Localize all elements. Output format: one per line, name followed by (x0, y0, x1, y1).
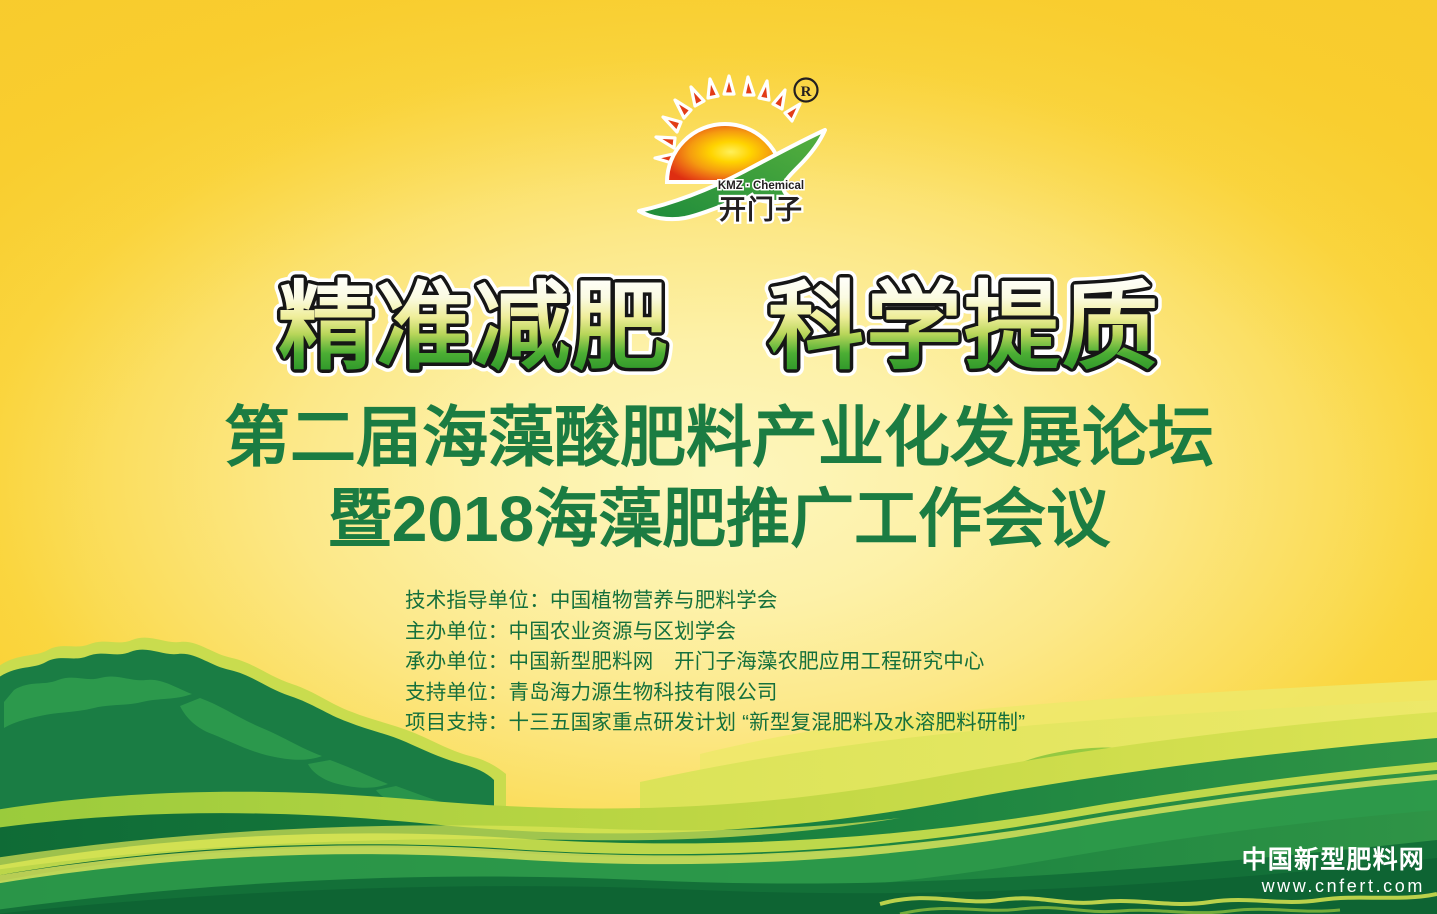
site-watermark: 中国新型肥料网 www.cnfert.com (1242, 845, 1425, 898)
watermark-url: www.cnfert.com (1242, 875, 1425, 898)
subtitle-line-1: 第二届海藻酸肥料产业化发展论坛 (224, 400, 1214, 474)
subtitle-line-2: 暨2018海藻肥推广工作会议 (327, 483, 1110, 555)
detail-lines: 技术指导单位：中国植物营养与肥料学会 主办单位：中国农业资源与区划学会 承办单位… (405, 586, 1205, 739)
brand-cn-text: 开门子 (719, 195, 803, 225)
svg-text:R: R (801, 84, 812, 100)
brand-latin-text: KMZ · Chemical (718, 180, 804, 192)
watermark-site-name: 中国新型肥料网 (1242, 845, 1425, 875)
subtitle-block: 第二届海藻酸肥料产业化发展论坛 暨2018海藻肥推广工作会议 (0, 398, 1437, 568)
headline-text: 精准减肥 科学提质 (278, 274, 1160, 381)
conference-poster: R (0, 0, 1437, 914)
headline: 精准减肥 科学提质 精准减肥 科学提质 精准减肥 科学提质 (0, 268, 1437, 388)
detail-line-technical-guidance: 技术指导单位：中国植物营养与肥料学会 (405, 586, 1205, 617)
detail-line-project-support: 项目支持：十三五国家重点研发计划 “新型复混肥料及水溶肥料研制” (405, 708, 1205, 739)
detail-line-organizer: 主办单位：中国农业资源与区划学会 (405, 617, 1205, 648)
company-logo: R (633, 70, 833, 240)
registered-trademark-icon: R (795, 79, 818, 102)
detail-line-supporter: 支持单位：青岛海力源生物科技有限公司 (405, 678, 1205, 709)
detail-line-co-organizer: 承办单位：中国新型肥料网 开门子海藻农肥应用工程研究中心 (405, 647, 1205, 678)
